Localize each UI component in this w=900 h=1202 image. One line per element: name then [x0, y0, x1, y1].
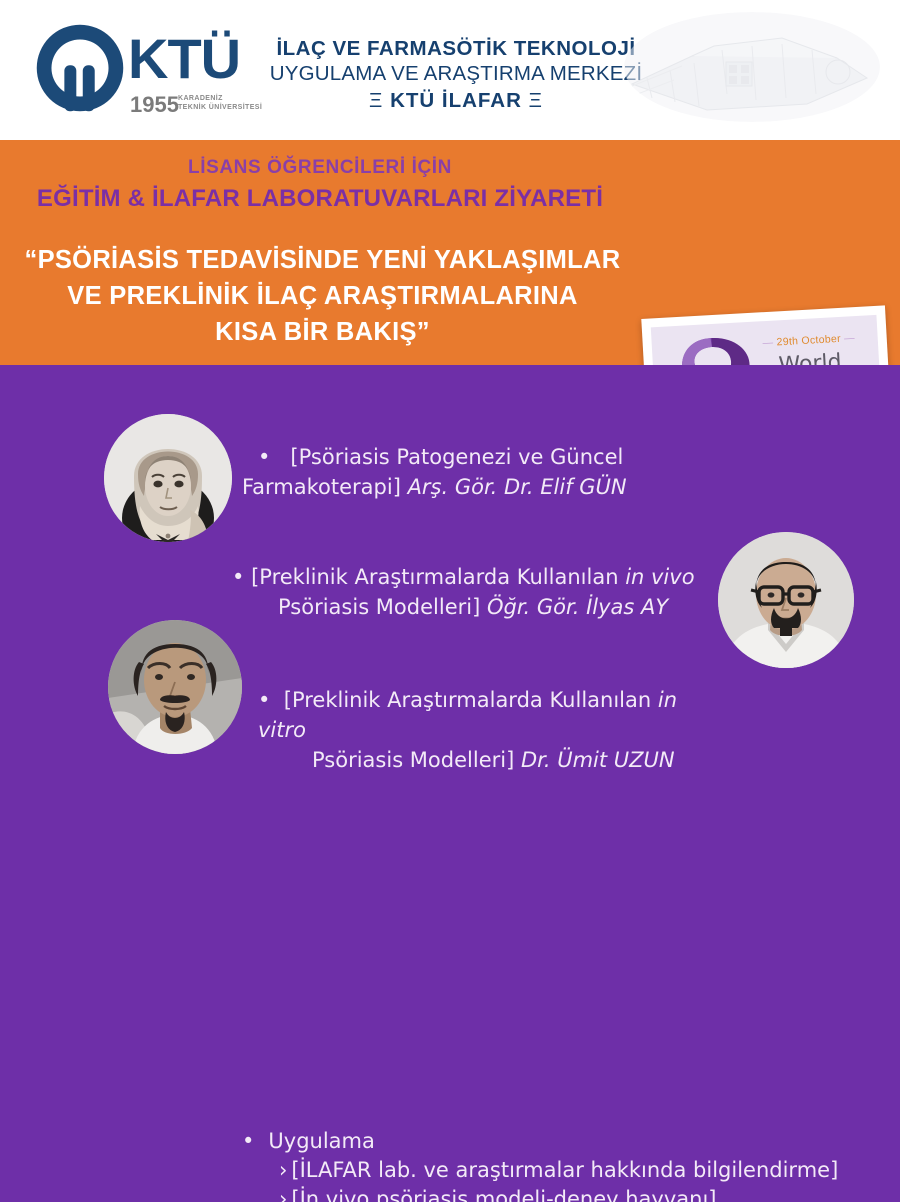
campus-building-watermark-icon: [622, 6, 882, 128]
talk-2-bullet: •: [232, 565, 244, 589]
practice-item-2-pre: [: [291, 1187, 299, 1202]
portrait-umit-uzun: [108, 620, 242, 754]
talk-3-bullet: •: [258, 688, 270, 712]
ktu-logo-wordmark: KTÜ: [128, 30, 240, 88]
center-title-line3: Ξ KTÜ İLAFAR Ξ: [266, 88, 646, 114]
ilafar-label: KTÜ İLAFAR: [390, 89, 522, 112]
talk-1-speaker: Arş. Gör. Dr. Elif GÜN: [408, 475, 627, 499]
center-title-line2: UYGULAMA VE ARAŞTIRMA MERKEZİ: [266, 61, 646, 86]
banner-subtitle-2: EĞİTİM & İLAFAR LABORATUVARLARI ZİYARETİ: [0, 185, 640, 213]
ktu-logo-subtitle-line2: TEKNİK ÜNİVERSİTESİ: [178, 103, 278, 112]
practice-block: •Uygulama ›[İLAFAR lab. ve araştırmalar …: [232, 1127, 838, 1202]
talk-1-line2: Farmakoterapi] Arş. Gör. Dr. Elif GÜN: [242, 472, 658, 502]
practice-item-1: ›[İLAFAR lab. ve araştırmalar hakkında b…: [279, 1156, 838, 1185]
practice-item-1-text: [İLAFAR lab. ve araştırmalar hakkında bi…: [291, 1158, 838, 1182]
talk-1-line1: • [Psöriasis Patogenezi ve Güncel: [258, 442, 658, 472]
talk-2-line2: Psöriasis Modelleri] Öğr. Gör. İlyas AY: [278, 592, 712, 622]
center-title-block: İLAÇ VE FARMASÖTİK TEKNOLOJİ UYGULAMA VE…: [266, 36, 646, 114]
talk-2-topic-a: [Preklinik Araştırmalarda Kullanılan: [251, 565, 625, 589]
orange-banner: LİSANS ÖĞRENCİLERİ İÇİN EĞİTİM & İLAFAR …: [0, 140, 900, 365]
portrait-elif-gun: [104, 414, 232, 542]
talk-item-2: • [Preklinik Araştırmalarda Kullanılan i…: [232, 562, 712, 622]
ktu-logo-mark: [34, 22, 126, 114]
banner-subtitle-1: LİSANS ÖĞRENCİLERİ İÇİN: [0, 157, 640, 179]
talk-3-topic-a: [Preklinik Araştırmalarda Kullanılan: [284, 688, 658, 712]
talk-3-topic-b: Psöriasis Modelleri]: [312, 748, 521, 772]
ktu-logo-year: 1955: [130, 92, 179, 118]
talk-3-line2: Psöriasis Modelleri] Dr. Ümit UZUN: [312, 745, 728, 775]
talk-3-speaker: Dr. Ümit UZUN: [521, 748, 675, 772]
speaker-photo-elif-gun: [104, 414, 232, 542]
speaker-photo-umit-uzun: [108, 620, 242, 754]
wpd-date: 29th October: [776, 333, 841, 349]
event-poster: KTÜ 1955 KARADENİZ TEKNİK ÜNİVERSİTESİ İ…: [0, 0, 900, 1202]
wpd-dash-right: —: [844, 332, 855, 345]
chevron-right-icon-1: ›: [279, 1158, 287, 1182]
talk-3-line1: • [Preklinik Araştırmalarda Kullanılan i…: [258, 685, 728, 745]
talk-item-3: • [Preklinik Araştırmalarda Kullanılan i…: [258, 685, 728, 775]
ktu-logo-subtitle: KARADENİZ TEKNİK ÜNİVERSİTESİ: [178, 94, 278, 112]
banner-title-line1: “PSÖRİASİS TEDAVİSİNDE YENİ YAKLAŞIMLAR: [0, 242, 645, 278]
talk-2-emphasis: in vivo: [625, 565, 694, 589]
chevron-right-icon-2: ›: [279, 1187, 287, 1202]
talk-1-bullet: •: [258, 445, 270, 469]
talk-2-topic-b: Psöriasis Modelleri]: [278, 595, 487, 619]
talk-1-topic-a: [Psöriasis Patogenezi ve Güncel: [290, 445, 623, 469]
world-psoriasis-day-card: — 29th October — World PSORIASIS Day: [641, 305, 894, 365]
speaker-photo-ilyas-ay: [718, 532, 854, 668]
banner-title-line3: KISA BİR BAKIŞ”: [0, 314, 645, 350]
wpd-world-label: World: [750, 348, 869, 365]
practice-item-2: ›[İn vivo psöriasis modeli-deney hayvanı…: [279, 1185, 838, 1202]
practice-item-2-emphasis: İn vivo: [300, 1187, 370, 1202]
ktu-logo: KTÜ 1955 KARADENİZ TEKNİK ÜNİVERSİTESİ: [30, 18, 280, 128]
portrait-ilyas-ay: [718, 532, 854, 668]
poster-body: • [Psöriasis Patogenezi ve Güncel Farmak…: [0, 365, 900, 1202]
banner-main-title: “PSÖRİASİS TEDAVİSİNDE YENİ YAKLAŞIMLAR …: [0, 242, 645, 350]
ktu-logo-subtitle-line1: KARADENİZ: [178, 94, 278, 103]
ornament-right-icon: Ξ: [529, 89, 543, 112]
practice-heading: Uygulama: [268, 1129, 374, 1153]
practice-item-2-post: psöriasis modeli-deney hayvanı]: [369, 1187, 716, 1202]
wpd-dash-left: —: [762, 337, 773, 350]
talk-item-1: • [Psöriasis Patogenezi ve Güncel Farmak…: [258, 442, 658, 502]
center-title-line1: İLAÇ VE FARMASÖTİK TEKNOLOJİ: [266, 36, 646, 61]
poster-header: KTÜ 1955 KARADENİZ TEKNİK ÜNİVERSİTESİ İ…: [0, 0, 900, 140]
ornament-left-icon: Ξ: [369, 89, 383, 112]
talk-2-line1: • [Preklinik Araştırmalarda Kullanılan i…: [232, 562, 712, 592]
talk-2-speaker: Öğr. Gör. İlyas AY: [487, 595, 668, 619]
banner-title-line2: VE PREKLİNİK İLAÇ ARAŞTIRMALARINA: [0, 278, 645, 314]
talk-1-topic-b: Farmakoterapi]: [242, 475, 408, 499]
world-psoriasis-day-text: — 29th October — World PSORIASIS Day: [750, 331, 873, 365]
practice-bullet: •: [242, 1129, 254, 1153]
practice-heading-row: •Uygulama: [242, 1127, 838, 1156]
